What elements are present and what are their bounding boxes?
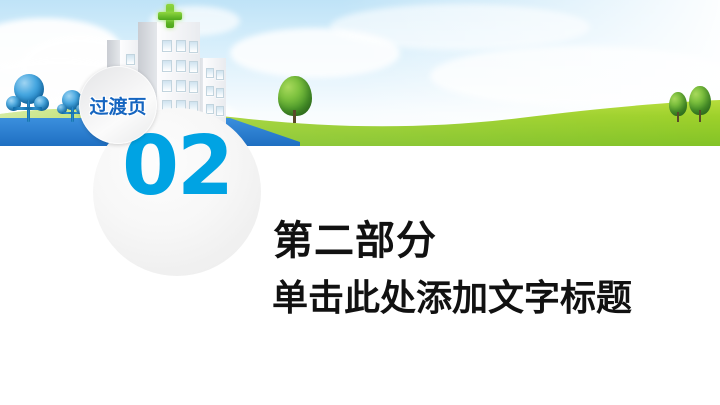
green-tree-icon <box>669 92 687 122</box>
page-subtitle: 单击此处添加文字标题 <box>272 279 632 319</box>
transition-page-badge: 过渡页 <box>79 66 157 144</box>
page-title: 第二部分 <box>273 219 437 263</box>
green-tree-icon <box>278 76 312 124</box>
slide-canvas: 02 过渡页 第二部分 单击此处添加文字标题 <box>0 0 720 405</box>
green-tree-icon <box>689 86 711 122</box>
stylized-blue-tree-icon <box>6 74 52 124</box>
green-cross-icon <box>158 4 182 28</box>
transition-page-badge-label: 过渡页 <box>89 92 146 119</box>
